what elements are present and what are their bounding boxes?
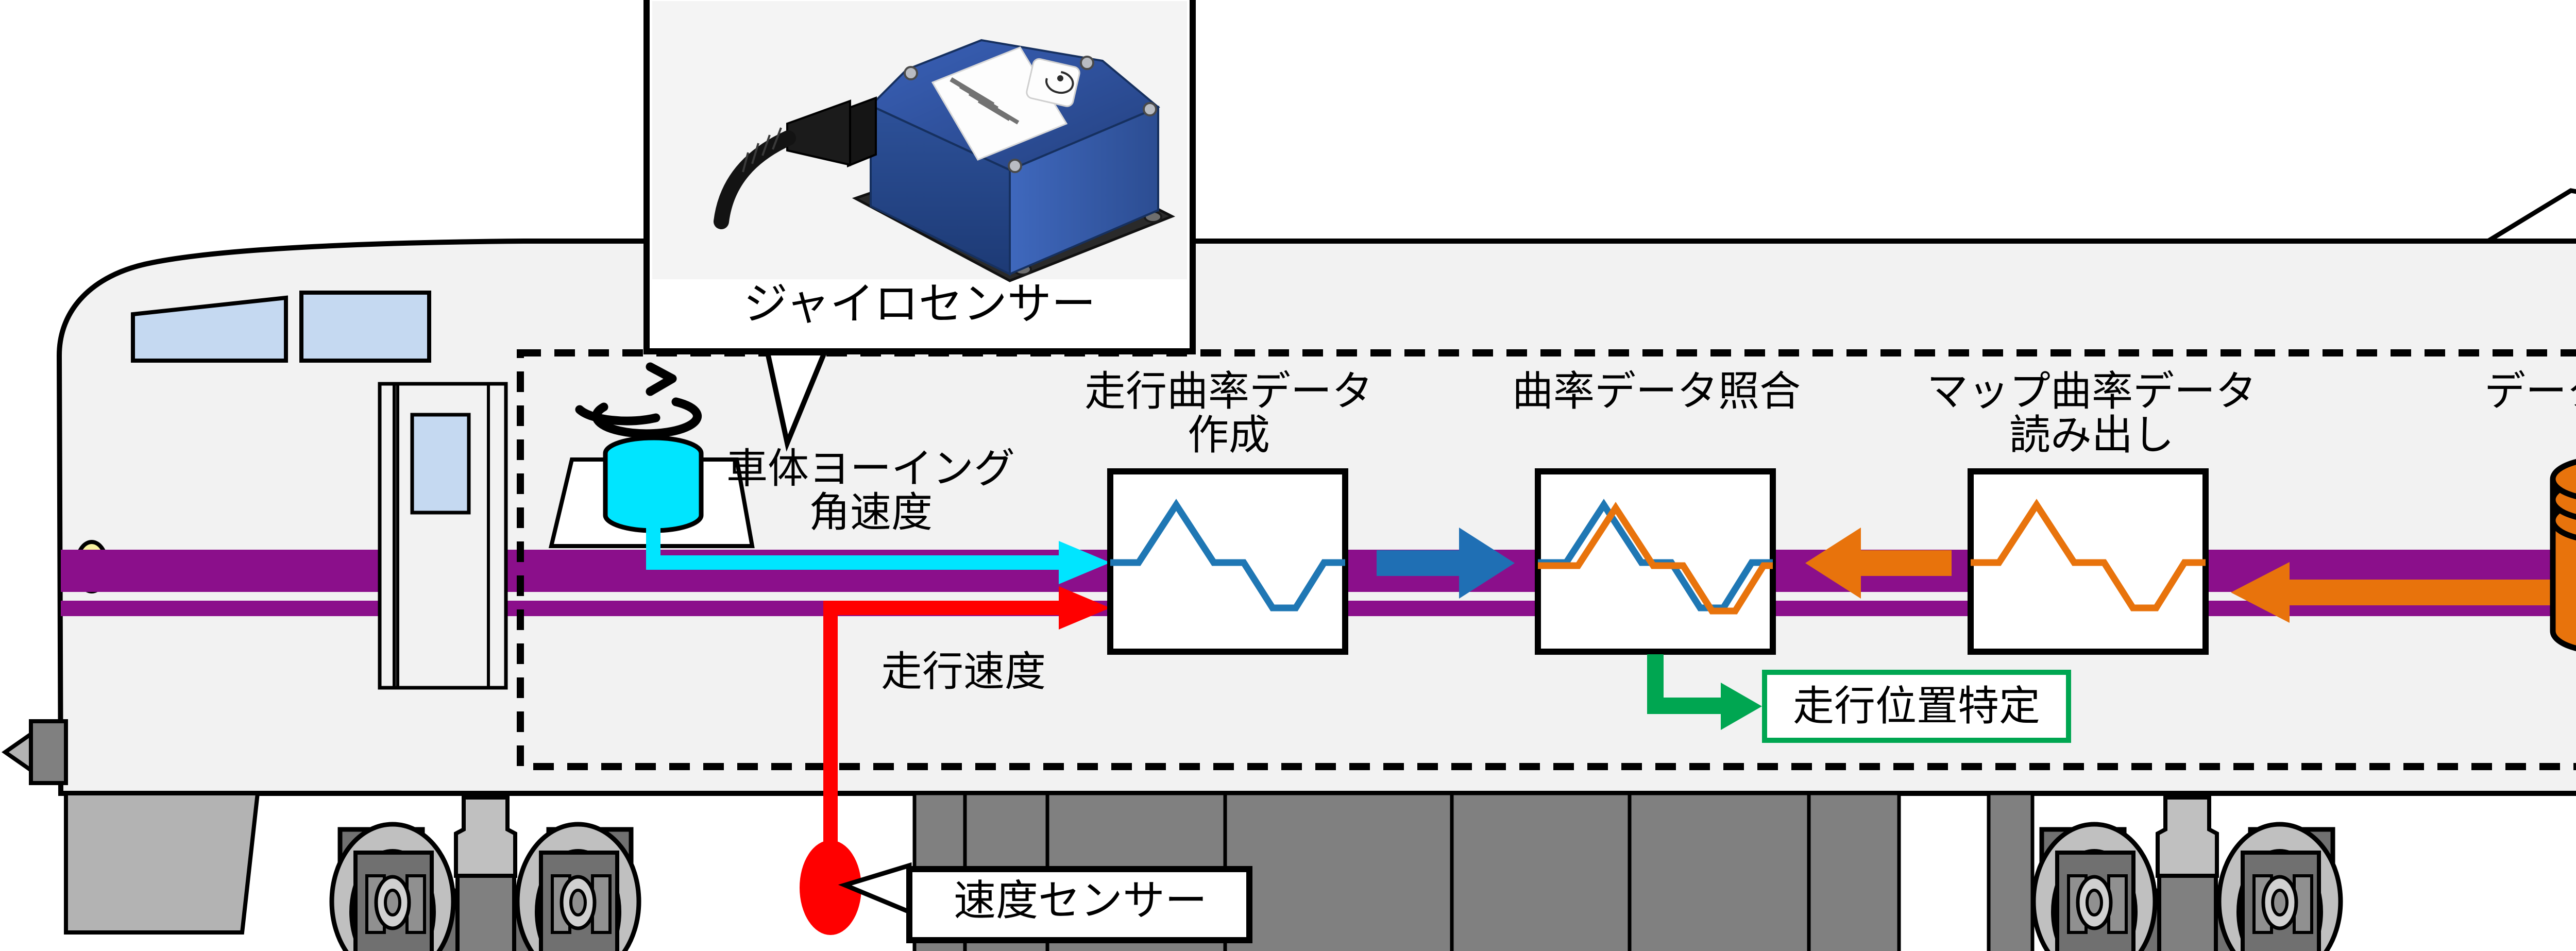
running-speed-label: 走行速度 [840, 650, 1087, 694]
running-curvature-chart [1110, 471, 1345, 652]
yaw-rate-label: 車体ヨーイング 角速度 [711, 447, 1030, 535]
cab-window-right [301, 293, 429, 361]
diagram-canvas: ジャイロセンサー 車体ヨーイング 角速度 走行速度 走行曲率データ 作成 曲率デ… [0, 0, 2576, 951]
bogie-front [332, 797, 639, 951]
map-curvature-step-label: マップ曲率データ 読み出し [1914, 370, 2269, 457]
gyro-sensor-label: ジャイロセンサー [654, 281, 1185, 328]
database-icon [2553, 458, 2576, 652]
curvature-matching-step-label: 曲率データ照合 [1479, 370, 1834, 414]
result-label: 走行位置特定 [1793, 685, 2040, 728]
bogie-center-pin [2158, 797, 2217, 876]
gyro-body [605, 453, 701, 531]
map-curvature-chart [1971, 471, 2206, 652]
running-curvature-step-label: 走行曲率データ 作成 [1051, 370, 1406, 457]
bogie-center-pin [456, 797, 515, 876]
database-step-label: データベース [2396, 370, 2576, 414]
bogie-rear [2033, 797, 2341, 951]
cab-door [380, 384, 506, 688]
result-box: 走行位置特定 [1762, 670, 2071, 743]
speed-sensor-label: 速度センサー [918, 879, 1243, 924]
curvature-matching-chart [1538, 471, 1773, 652]
